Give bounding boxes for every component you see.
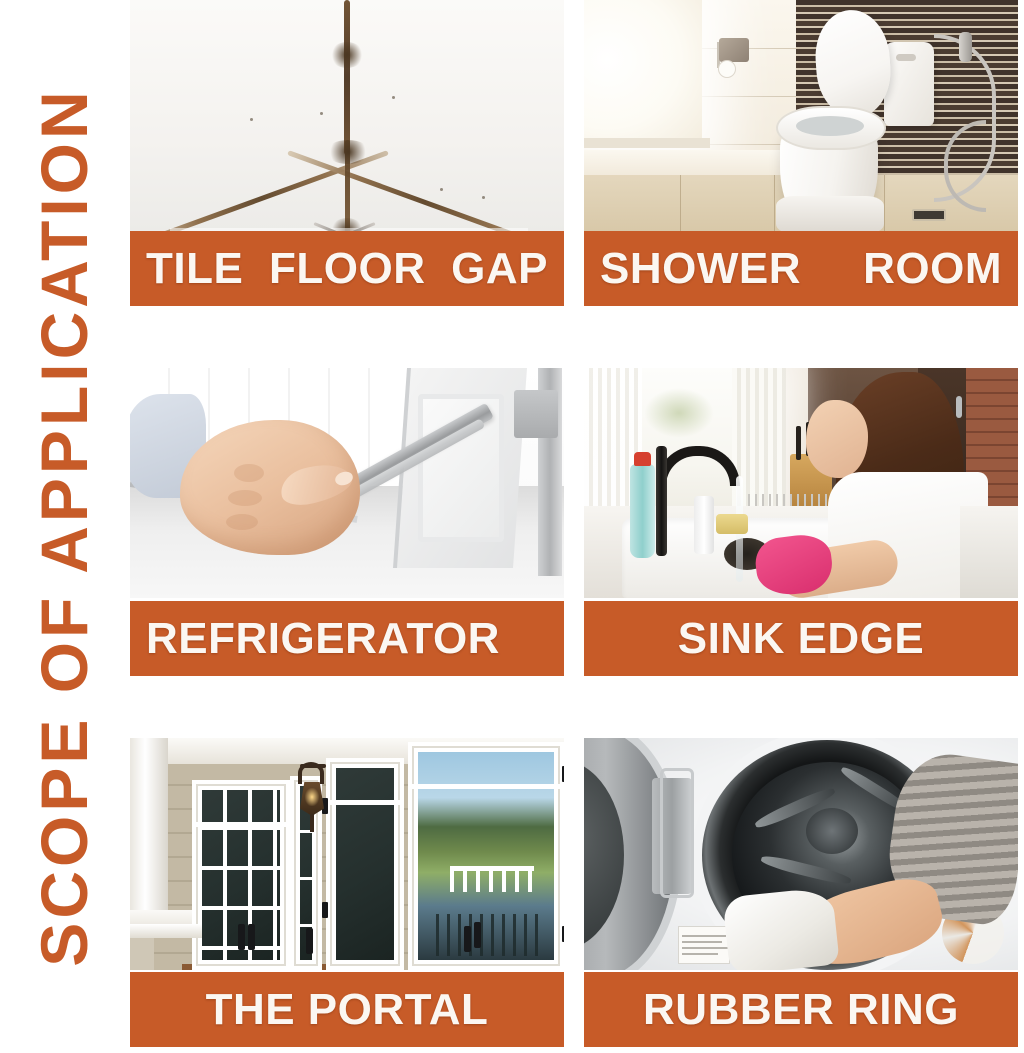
photo-sink-edge	[584, 368, 1018, 598]
caption-text: SHOWER ROOM	[600, 244, 1002, 294]
caption-text: TILE FLOOR GAP	[146, 244, 548, 294]
photo-refrigerator	[130, 368, 564, 598]
cell-shower-room[interactable]: SHOWER ROOM	[584, 0, 1018, 306]
caption-refrigerator: REFRIGERATOR	[130, 601, 564, 676]
photo-rubber-ring	[584, 738, 1018, 970]
cell-sink-edge[interactable]: SINK EDGE	[584, 368, 1018, 676]
caption-text: REFRIGERATOR	[146, 614, 548, 664]
cell-the-portal[interactable]: THE PORTAL	[130, 738, 564, 1047]
caption-text: SINK EDGE	[678, 614, 925, 664]
caption-sink-edge: SINK EDGE	[584, 601, 1018, 676]
cell-rubber-ring[interactable]: RUBBER RING	[584, 738, 1018, 1047]
cell-tile-floor-gap[interactable]: TILE FLOOR GAP	[130, 0, 564, 306]
caption-rubber-ring: RUBBER RING	[584, 972, 1018, 1047]
application-scope-grid: TILE FLOOR GAP SH	[130, 0, 1018, 1045]
photo-tile-floor-gap	[130, 0, 564, 233]
caption-tile-floor-gap: TILE FLOOR GAP	[130, 231, 564, 306]
photo-shower-room	[584, 0, 1018, 233]
caption-text: THE PORTAL	[206, 985, 489, 1035]
photo-the-portal	[130, 738, 564, 970]
caption-text: RUBBER RING	[643, 985, 959, 1035]
side-title-container: SCOPE OF APPLICATION	[0, 0, 128, 1053]
caption-shower-room: SHOWER ROOM	[584, 231, 1018, 306]
cell-refrigerator[interactable]: REFRIGERATOR	[130, 368, 564, 676]
caption-the-portal: THE PORTAL	[130, 972, 564, 1047]
scope-of-application-title: SCOPE OF APPLICATION	[31, 87, 97, 966]
